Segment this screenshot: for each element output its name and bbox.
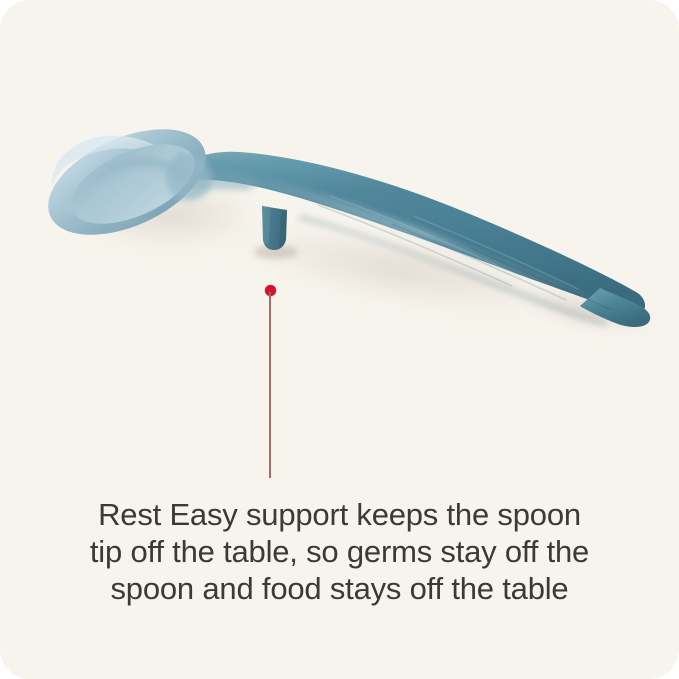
caption-line-2: tip off the table, so germs stay off the — [0, 533, 679, 570]
product-feature-card: Rest Easy support keeps the spoon tip of… — [0, 0, 679, 679]
rest-easy-support-nub — [262, 206, 287, 250]
screenshot-stage: Rest Easy support keeps the spoon tip of… — [0, 0, 679, 679]
caption-line-3: spoon and food stays off the table — [0, 570, 679, 607]
product-image — [0, 0, 679, 470]
caption-line-1: Rest Easy support keeps the spoon — [0, 496, 679, 533]
feature-caption: Rest Easy support keeps the spoon tip of… — [0, 496, 679, 607]
spoon-illustration — [0, 0, 679, 470]
